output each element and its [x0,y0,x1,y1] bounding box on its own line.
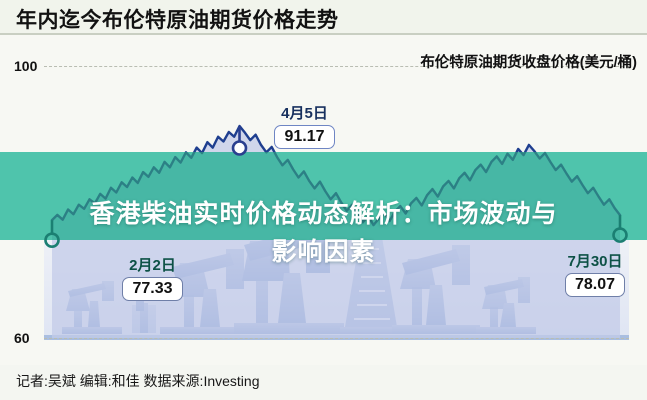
chart-footer: 记者:吴斌 编辑:和佳 数据来源:Investing [0,365,647,400]
chart-page: 年内迄今布伦特原油期货价格走势 [0,0,647,400]
data-point-markers [0,35,647,365]
annotation-peak-date: 4月5日 [252,105,357,123]
page-title: 年内迄今布伦特原油期货价格走势 [16,4,339,34]
annotation-end-value: 78.07 [565,273,625,297]
annotation-start: 2月2日 77.33 [100,257,205,301]
annotation-peak-value: 91.17 [274,125,334,149]
annotation-start-date: 2月2日 [100,257,205,275]
credits-line: 记者:吴斌 编辑:和佳 数据来源:Investing [16,371,259,391]
annotation-end: 7月30日 78.07 [550,253,640,297]
chart-plot-area: 100 80 60 布伦特原油期货收盘价格(美元/桶) 4月5日 91.17 2… [0,35,647,365]
annotation-peak: 4月5日 91.17 [252,105,357,149]
annotation-start-value: 77.33 [122,277,182,301]
annotation-end-date: 7月30日 [550,253,640,271]
chart-header: 年内迄今布伦特原油期货价格走势 [0,0,647,34]
